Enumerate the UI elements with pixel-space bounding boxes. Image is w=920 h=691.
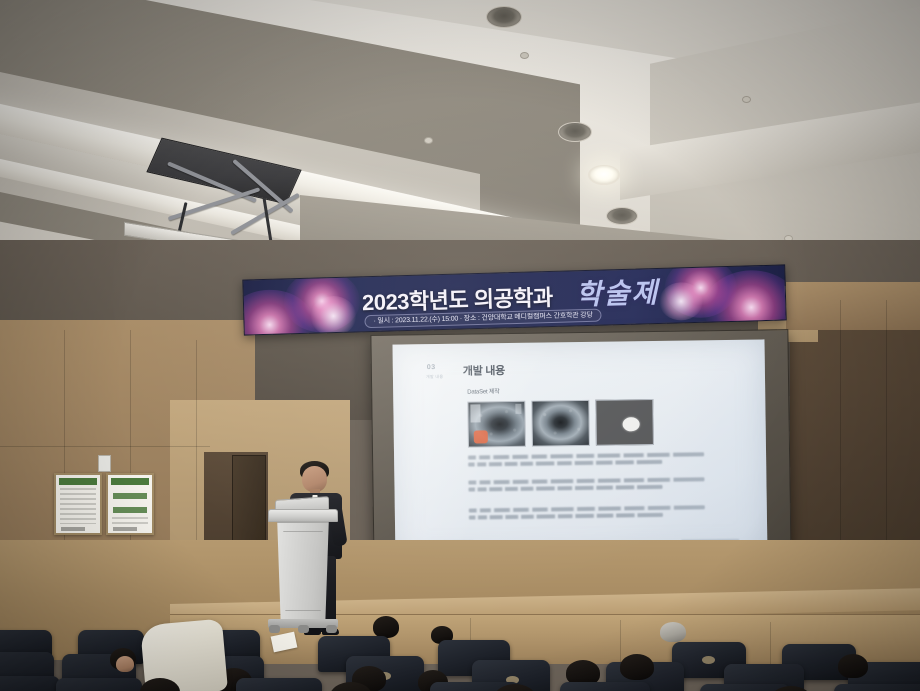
auditorium-photo: 2023학년도 의공학과 학술제 · 일시 : 2023.11.22.(수) 1…: [0, 0, 920, 691]
roi-marker: [474, 430, 488, 443]
poster-text-rows: [60, 488, 96, 524]
downlight-icon: [588, 165, 620, 185]
ultrasound-ui-overlay: [515, 404, 521, 414]
slide-paragraph: [469, 505, 705, 522]
auditorium-seat[interactable]: [560, 682, 650, 691]
slide-title: 개발 내용: [463, 362, 505, 379]
wall-poster: [106, 473, 154, 535]
poster-text-rows: [112, 517, 148, 524]
ceiling-sensor-icon: [742, 96, 751, 103]
poster-header-band: [111, 478, 149, 485]
audience-head: [373, 616, 399, 638]
audience-head: [660, 622, 686, 642]
poster-section-band: [113, 493, 147, 499]
downlight-icon: [558, 122, 592, 142]
slide-paragraph: [468, 452, 704, 469]
audience-head: [116, 656, 134, 672]
slide-text-line: [469, 485, 663, 492]
right-wall-wood-band: [786, 282, 920, 330]
podium-front-panel: [282, 531, 324, 611]
podium-top: [268, 509, 338, 522]
poster-header-band: [59, 478, 97, 485]
auditorium-seat[interactable]: [834, 684, 920, 691]
poster-logo: [113, 527, 137, 531]
lift-rod: [263, 198, 273, 242]
slide-text-line: [468, 452, 704, 459]
audience-seating: [0, 612, 920, 691]
banner-script-title: 학술제: [575, 271, 659, 313]
screen-glare: [393, 339, 768, 559]
audience-head: [620, 654, 654, 680]
slide-subtitle: DataSet 제작: [467, 386, 500, 395]
slide-paragraph: [468, 477, 704, 494]
podium: [272, 509, 334, 629]
wall-notice-sign: [98, 455, 111, 472]
endoscopic-ultrasound-grayscale: [531, 400, 590, 447]
slide-text-line: [469, 505, 705, 512]
wall-poster: [54, 473, 102, 535]
downlight-icon: [486, 6, 522, 28]
seat-crest-emblem: [702, 656, 715, 664]
projection-screen: 03 개발 내용 개발 내용 DataSet 제작: [370, 329, 791, 572]
auditorium-seat[interactable]: [0, 676, 60, 691]
poster-section-band: [113, 507, 147, 513]
ceiling-sensor-icon: [424, 137, 433, 144]
audience-head: [838, 654, 868, 678]
slide-text-line: [468, 477, 704, 484]
poster-logo: [61, 527, 85, 531]
ultrasound-speckle: [532, 401, 589, 446]
slide-text-line: [468, 460, 662, 467]
slide-text-line: [469, 513, 663, 520]
ultrasound-ui-overlay: [470, 404, 480, 422]
downlight-icon: [606, 207, 638, 225]
smoke-detector-icon: [520, 52, 529, 59]
auditorium-seat[interactable]: [56, 678, 142, 691]
slide-surface: 03 개발 내용 개발 내용 DataSet 제작: [393, 339, 768, 559]
mask-region: [623, 417, 640, 431]
slide-section-number: 03: [427, 364, 436, 371]
auditorium-seat[interactable]: [236, 678, 322, 691]
slide-section-label: 개발 내용: [426, 374, 443, 380]
wood-seam: [0, 446, 210, 447]
segmentation-mask: [595, 399, 654, 446]
endoscopic-ultrasound-with-roi: [467, 401, 526, 448]
handout-paper: [271, 632, 298, 653]
slide-image-row: [467, 399, 654, 448]
firework-graphic: [310, 295, 357, 335]
